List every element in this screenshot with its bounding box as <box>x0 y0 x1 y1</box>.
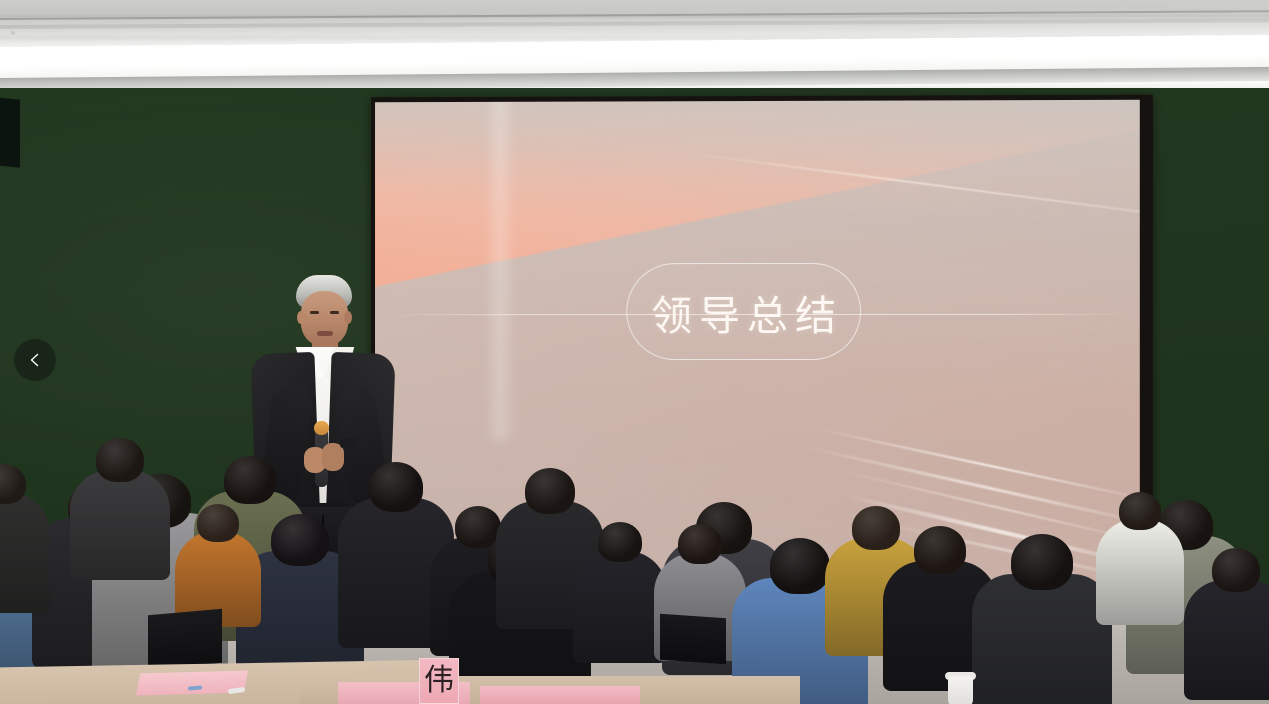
audience-member-19 <box>972 534 1112 704</box>
audience-member-body <box>972 574 1112 704</box>
presenter-ear-left <box>297 311 305 324</box>
presenter-ear-right <box>344 311 352 324</box>
audience-member-head <box>369 462 423 512</box>
audience-member-head <box>525 468 575 514</box>
wall-mounted-speaker <box>0 96 20 168</box>
audience-member-body <box>1184 580 1269 700</box>
audience-member-13 <box>573 522 667 674</box>
presenter-eye-left <box>310 311 319 314</box>
ceiling-screw <box>11 31 15 35</box>
audience-member-head <box>1212 548 1260 592</box>
audience-member-head <box>271 514 329 566</box>
audience-member-5 <box>70 438 170 592</box>
audience-member-body <box>573 551 667 663</box>
audience-member-head <box>197 504 239 542</box>
audience-member-22 <box>1184 548 1269 704</box>
audience-member-head <box>914 526 966 574</box>
name-placard-text: 伟 <box>424 666 454 696</box>
presenter-eye-right <box>330 311 339 314</box>
audience-member-head <box>96 438 144 482</box>
presenter-head <box>301 291 348 347</box>
audience-member-head <box>770 538 830 594</box>
name-placard: 伟 <box>419 658 459 704</box>
audience-member-body <box>1096 519 1184 625</box>
audience-member-body <box>70 470 170 580</box>
slide-title-text: 领导总结 <box>644 281 843 341</box>
audience-member-head <box>224 456 276 504</box>
laptop <box>660 614 726 665</box>
photo-viewer: 领导总结 <box>0 0 1269 704</box>
audience-member-21 <box>1096 492 1184 636</box>
previous-image-button[interactable] <box>14 339 56 381</box>
audience-member-body <box>0 493 50 613</box>
water-cup <box>948 676 973 704</box>
meeting-room-photo: 领导总结 <box>0 0 1269 704</box>
ceiling-seam-secondary <box>0 18 1269 29</box>
audience-member-head <box>1119 492 1161 530</box>
audience-member-head <box>1011 534 1073 590</box>
projector-glare <box>486 100 516 441</box>
laptop <box>148 609 222 669</box>
slide-title-pill: 领导总结 <box>626 263 861 360</box>
pink-paper <box>480 686 640 704</box>
chevron-left-icon <box>27 352 43 368</box>
audience-member-head <box>598 522 642 562</box>
audience-member-3 <box>0 464 50 624</box>
presenter-mouth <box>317 331 333 336</box>
audience-member-head <box>678 524 722 564</box>
